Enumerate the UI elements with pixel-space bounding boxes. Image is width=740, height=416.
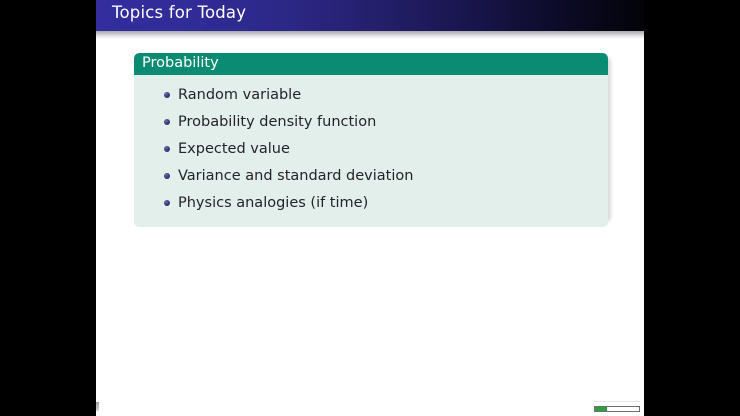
title-bar-shadow bbox=[96, 31, 644, 39]
screen: Topics for Today Probability Random vari… bbox=[0, 0, 740, 416]
bullet-dot-icon bbox=[164, 146, 170, 152]
presentation-slide: Topics for Today Probability Random vari… bbox=[96, 0, 644, 416]
bullet-list: Random variable Probability density func… bbox=[144, 87, 598, 211]
bullet-dot-icon bbox=[164, 92, 170, 98]
block-heading: Probability bbox=[134, 53, 608, 75]
list-item: Physics analogies (if time) bbox=[144, 195, 598, 211]
content-block-wrapper: Probability Random variable Probability … bbox=[134, 53, 608, 227]
list-item-label: Expected value bbox=[178, 141, 290, 157]
page-number-marker bbox=[96, 402, 99, 411]
slide-progress-fill bbox=[595, 407, 607, 411]
list-item: Expected value bbox=[144, 141, 598, 157]
letterbox-right bbox=[644, 0, 740, 416]
bullet-dot-icon bbox=[164, 119, 170, 125]
list-item: Variance and standard deviation bbox=[144, 168, 598, 184]
letterbox-left bbox=[0, 0, 96, 416]
slide-title: Topics for Today bbox=[112, 3, 246, 22]
list-item-label: Probability density function bbox=[178, 114, 376, 130]
list-item: Probability density function bbox=[144, 114, 598, 130]
content-block: Probability Random variable Probability … bbox=[134, 53, 608, 227]
bullet-dot-icon bbox=[164, 173, 170, 179]
block-body: Random variable Probability density func… bbox=[134, 75, 608, 227]
slide-progress-bar[interactable] bbox=[594, 406, 640, 412]
list-item-label: Physics analogies (if time) bbox=[178, 195, 368, 211]
bullet-dot-icon bbox=[164, 200, 170, 206]
list-item-label: Random variable bbox=[178, 87, 301, 103]
list-item-label: Variance and standard deviation bbox=[178, 168, 413, 184]
slide-title-bar: Topics for Today bbox=[96, 0, 644, 31]
list-item: Random variable bbox=[144, 87, 598, 103]
progress-hairline bbox=[594, 401, 640, 402]
